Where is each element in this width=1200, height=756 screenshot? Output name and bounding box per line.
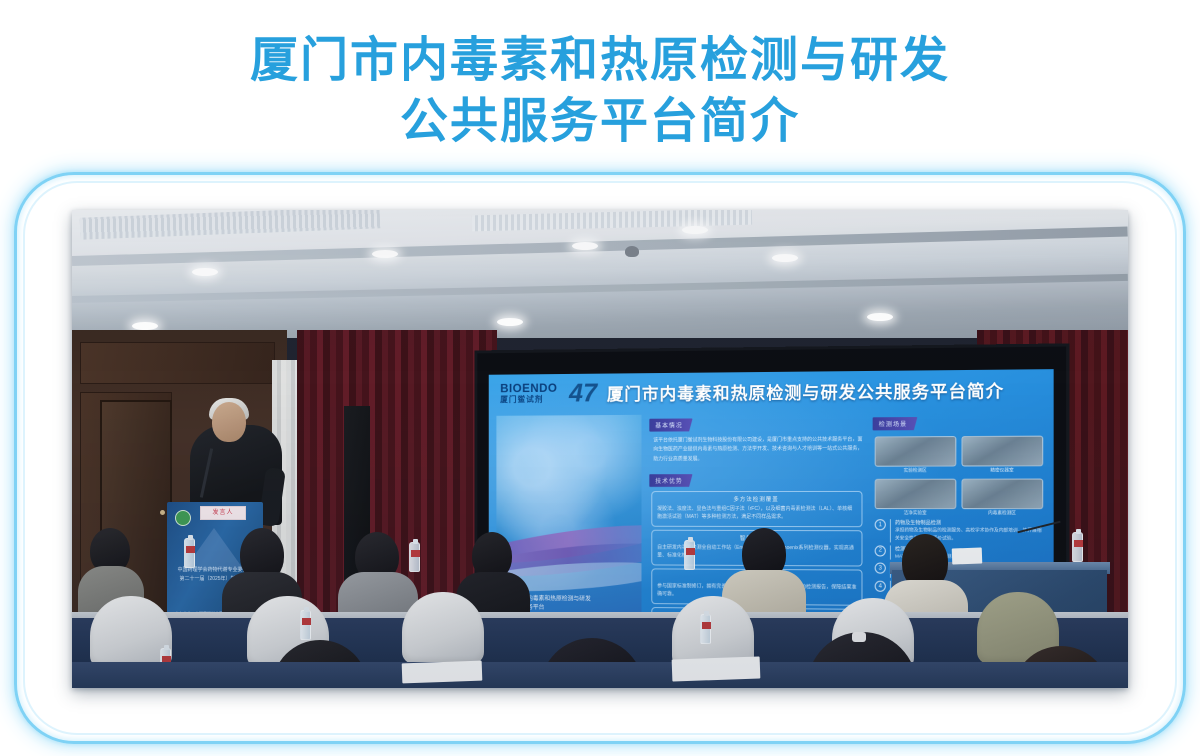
slide-thumbnail-image [961,479,1043,510]
downlight-icon [372,250,398,258]
slide-item-number: 3 [875,563,886,574]
page-title-line-2: 公共服务平台简介 [0,91,1200,152]
slide-thumbnail-cell: 内毒素检测区 [961,479,1043,517]
water-bottle [1072,532,1083,562]
water-bottle [184,538,195,568]
slide-thumbnail-caption: 内毒素检测区 [961,510,1043,516]
slide-thumbnail-image [875,436,956,467]
hair-clip-icon [852,632,866,642]
page-title-line-1: 厦门市内毒素和热原检测与研发 [0,30,1200,91]
slide-section-tag-scenes: 检测场景 [873,417,918,430]
slide-tech-card-header: 多方法检测覆盖 [657,495,856,503]
table-paper [402,661,483,684]
brand-mark: 47 [569,377,597,408]
slide-thumbnail-cell: 精密仪器室 [961,436,1043,474]
downlight-icon [192,268,218,276]
slide-item-number: 2 [875,545,886,556]
water-bottle [409,542,420,572]
slide-section-tag-basic: 基本情况 [649,418,692,431]
table-paper [672,656,761,681]
speaker-head [212,402,246,442]
slide-thumbnail-grid: 实验检测区 精密仪器室 洁净实验室 [875,436,1044,517]
page-root: 厦门市内毒素和热原检测与研发 公共服务平台简介 [0,0,1200,756]
water-bottle [700,614,711,644]
slide-thumbnail-caption: 实验检测区 [875,468,956,474]
slide-thumbnail-image [875,479,956,509]
table-paper [952,547,983,564]
slide-tech-card-body: 凝胶法、浊度法、显色法与重组C因子法（rFC），以及细菌内毒素检测法（LAL）、… [657,505,856,522]
page-title: 厦门市内毒素和热原检测与研发 公共服务平台简介 [0,30,1200,153]
downlight-icon [867,313,893,321]
downlight-icon [682,226,708,234]
downlight-icon [132,322,158,330]
bioendo-logo: BIOENDO 厦门鲎试剂 [500,382,557,404]
conference-photo: BIOENDO 厦门鲎试剂 47 厦门市内毒素和热原检测与研发公共服务平台简介 … [72,210,1128,688]
podium-nameplate-text: 发言人 [201,507,245,520]
downlight-icon [572,242,598,250]
slide-section-tag-tech: 技术优势 [649,474,692,487]
slide-item-number: 1 [875,519,886,530]
slide-item-number: 4 [875,581,886,592]
audience-table-row-front [72,662,1128,688]
ceiling-camera-icon [625,246,639,257]
wood-panel [80,342,275,384]
slide-thumbnail-caption: 洁净实验室 [875,510,956,516]
slide-section-text-basic: 该平台依托厦门鲎试剂生物科技股份有限公司建设，是厦门市重点支持的公共技术服务平台… [653,436,862,465]
brand-name-cn: 厦门鲎试剂 [500,396,557,404]
water-bottle [684,540,695,570]
chair [402,592,484,664]
slide-thumbnail-caption: 精密仪器室 [961,467,1043,473]
slide-thumbnail-cell: 实验检测区 [875,436,956,474]
slide-header: BIOENDO 厦门鲎试剂 47 厦门市内毒素和热原检测与研发公共服务平台简介 [489,369,1054,412]
downlight-icon [772,254,798,262]
association-logo-icon [175,510,191,526]
slide-thumbnail-image [961,436,1043,467]
brand-name-en: BIOENDO [500,382,557,394]
slide-tech-card: 多方法检测覆盖 凝胶法、浊度法、显色法与重组C因子法（rFC），以及细菌内毒素检… [651,491,862,527]
door-knob-icon[interactable] [160,510,165,515]
downlight-icon [497,318,523,326]
podium-nameplate: 发言人 [200,506,246,520]
slide-thumbnail-cell: 洁净实验室 [875,479,956,517]
water-bottle [300,610,311,640]
slide-title: 厦门市内毒素和热原检测与研发公共服务平台简介 [607,376,1004,404]
